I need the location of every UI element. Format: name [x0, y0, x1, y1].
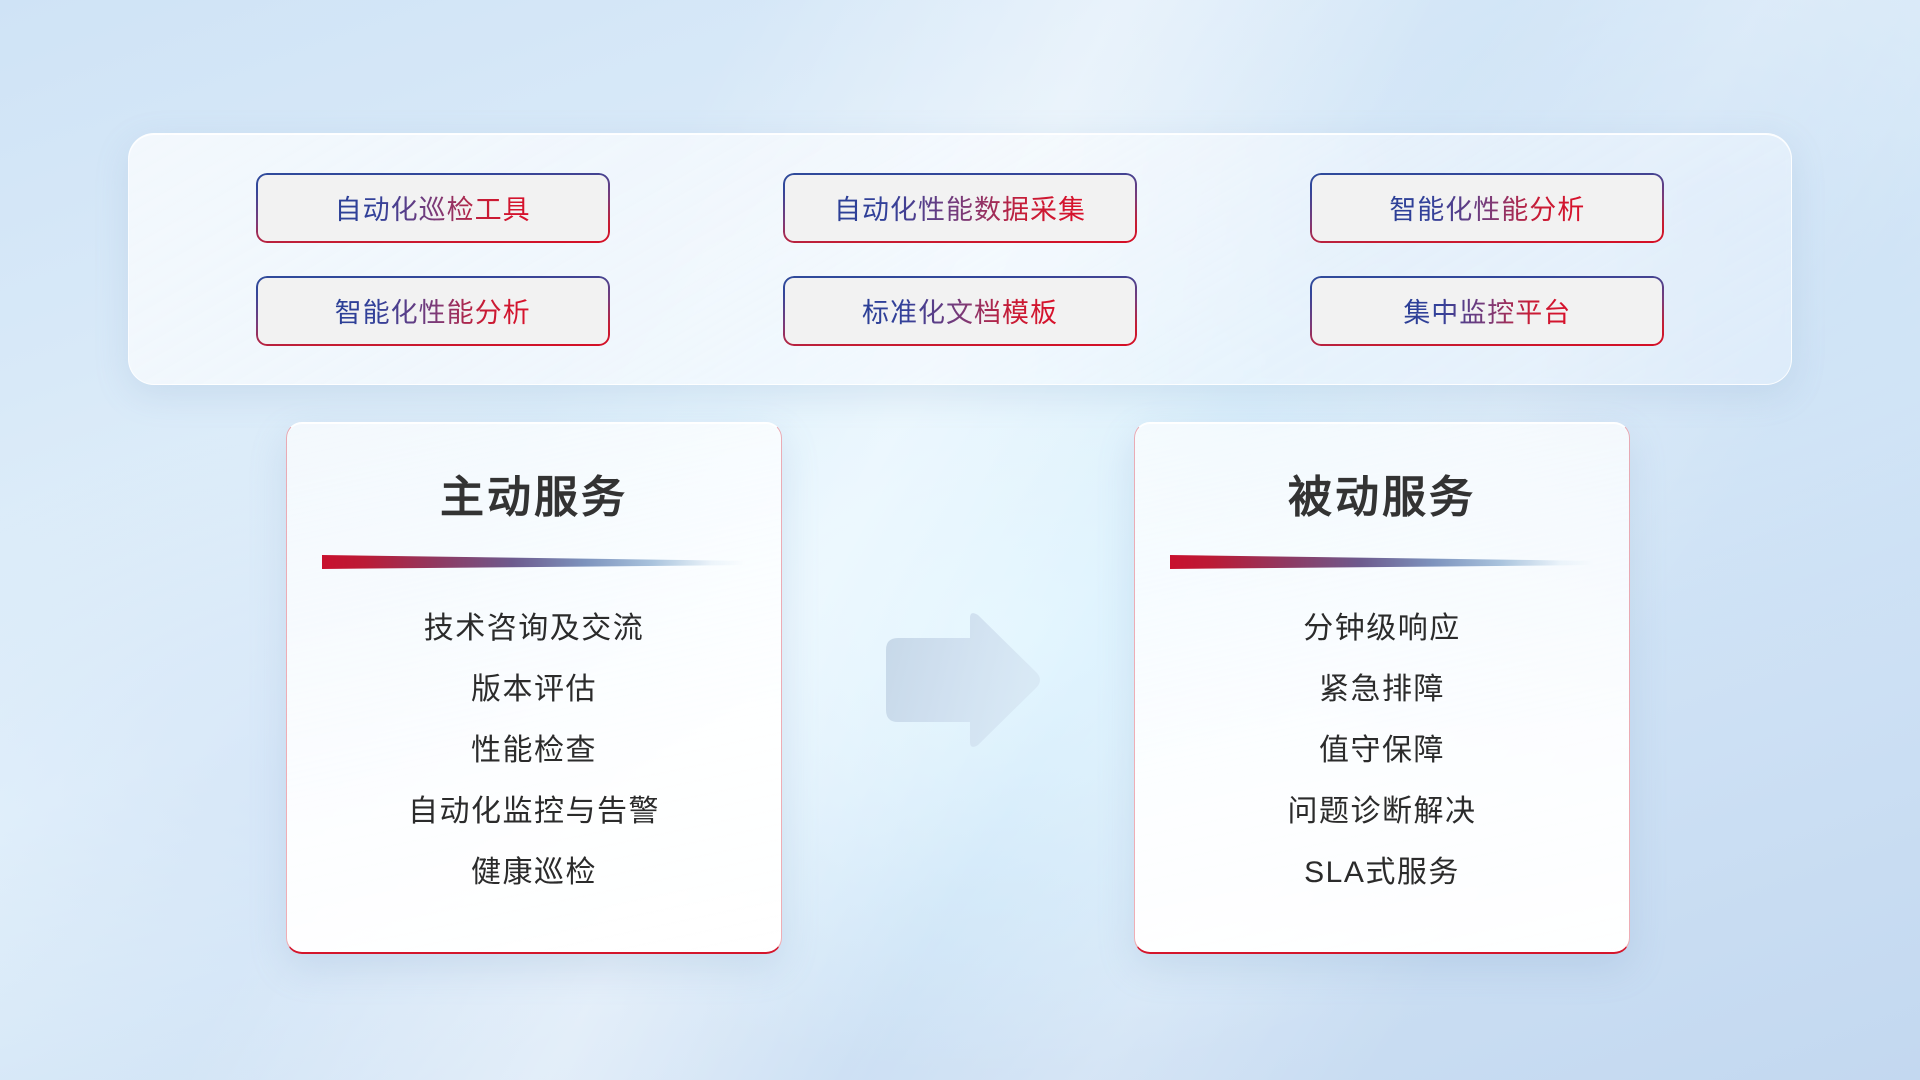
capability-tag[interactable]: 标准化文档模板: [783, 276, 1137, 346]
service-list-item: 健康巡检: [471, 853, 597, 892]
title-divider: [322, 555, 746, 569]
service-list-item: 性能检查: [471, 731, 597, 770]
service-list-item: 紧急排障: [1319, 670, 1445, 709]
capability-panel: 自动化巡检工具 自动化性能数据采集 智能化性能分析 智能化性能分析 标准化文档模…: [128, 133, 1792, 385]
title-divider: [1170, 555, 1594, 569]
service-list-item: 分钟级响应: [1303, 609, 1461, 648]
capability-tag-label: 自动化性能数据采集: [834, 188, 1086, 227]
service-list-item: 版本评估: [471, 670, 597, 709]
capability-tag-label: 自动化巡检工具: [335, 188, 531, 227]
capability-tag-label: 标准化文档模板: [862, 291, 1058, 330]
service-item-list: 技术咨询及交流 版本评估 性能检查 自动化监控与告警 健康巡检: [287, 609, 781, 892]
service-card-title: 被动服务: [1135, 461, 1629, 525]
capability-tag-label: 智能化性能分析: [1389, 188, 1585, 227]
service-list-item: 技术咨询及交流: [424, 609, 645, 648]
arrow-right-icon: [878, 610, 1044, 752]
divider-wedge: [1170, 555, 1594, 569]
service-list-item: 问题诊断解决: [1288, 792, 1477, 831]
service-list-item: 自动化监控与告警: [408, 792, 660, 831]
capability-tag-label: 集中监控平台: [1403, 291, 1571, 330]
service-item-list: 分钟级响应 紧急排障 值守保障 问题诊断解决 SLA式服务: [1135, 609, 1629, 892]
service-card-proactive: 主动服务 技术咨询及交流 版本评估 性能检查 自动化监控与告警 健康巡检: [286, 422, 782, 954]
capability-tag[interactable]: 集中监控平台: [1310, 276, 1664, 346]
divider-wedge: [322, 555, 746, 569]
capability-tag[interactable]: 智能化性能分析: [1310, 173, 1664, 243]
service-list-item: 值守保障: [1319, 731, 1445, 770]
service-list-item: SLA式服务: [1304, 853, 1460, 892]
slide-canvas: 自动化巡检工具 自动化性能数据采集 智能化性能分析 智能化性能分析 标准化文档模…: [0, 0, 1920, 1080]
service-card-title: 主动服务: [287, 461, 781, 525]
capability-tag[interactable]: 自动化巡检工具: [256, 173, 610, 243]
service-card-reactive: 被动服务 分钟级响应 紧急排障 值守保障 问题诊断解决 SLA式服务: [1134, 422, 1630, 954]
capability-tag[interactable]: 自动化性能数据采集: [783, 173, 1137, 243]
capability-tag-label: 智能化性能分析: [335, 291, 531, 330]
capability-tag[interactable]: 智能化性能分析: [256, 276, 610, 346]
